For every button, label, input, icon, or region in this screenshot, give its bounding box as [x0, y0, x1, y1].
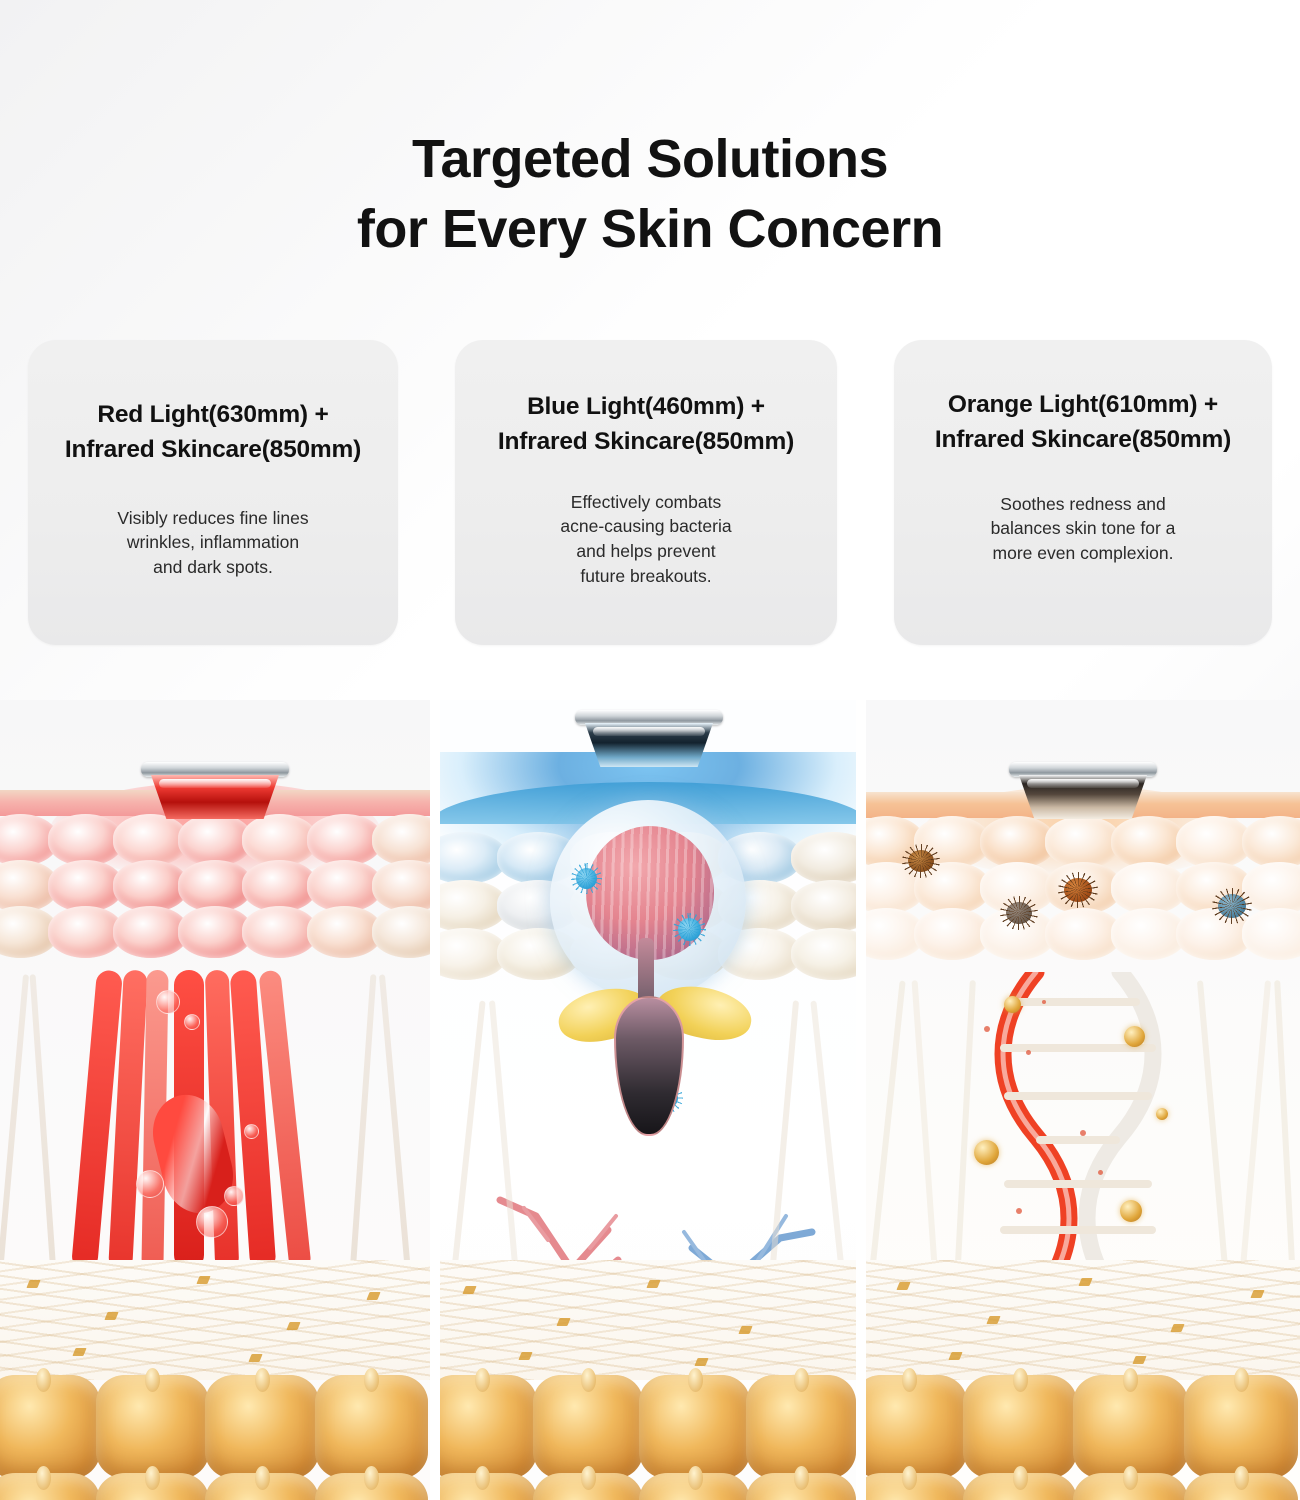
feature-card-row: Red Light(630mm) + Infrared Skincare(850…	[28, 340, 1272, 645]
device-gloss	[593, 727, 705, 736]
fat-cell	[96, 1473, 210, 1500]
collagen-strand	[379, 974, 411, 1273]
fat-cell	[963, 1473, 1078, 1500]
subcutaneous-fat-red	[0, 1378, 430, 1500]
acne-bacteria	[678, 918, 701, 941]
fat-cell	[1184, 1375, 1299, 1479]
device-rim	[575, 710, 723, 725]
micro-bubble	[136, 1170, 164, 1198]
page-title: Targeted Solutions for Every Skin Concer…	[0, 124, 1300, 264]
gold-particle	[1004, 996, 1021, 1013]
fat-cell	[440, 1375, 537, 1479]
pigment-dust	[1042, 1000, 1046, 1004]
fat-cell	[1073, 1375, 1188, 1479]
reticular-lattice-blue	[440, 1260, 858, 1380]
fat-cell	[440, 1473, 537, 1500]
collagen-strand	[30, 974, 57, 1274]
acne-bacteria	[576, 868, 597, 889]
pigment-dust	[1026, 1050, 1031, 1055]
pigment-dust	[1080, 1130, 1086, 1136]
gold-particle	[1156, 1108, 1168, 1120]
fat-cell	[639, 1473, 750, 1500]
collagen-strand	[0, 974, 29, 1273]
fat-cell	[639, 1375, 750, 1479]
red-light-collagen-panel	[0, 700, 430, 1500]
device-head-chrome-icon[interactable]	[1005, 762, 1161, 822]
fat-cell	[205, 1473, 319, 1500]
card-title-orange: Orange Light(610mm) + Infrared Skincare(…	[935, 388, 1231, 458]
fat-cell	[746, 1473, 857, 1500]
subcutaneous-fat-blue	[440, 1378, 858, 1500]
pigment-dust	[984, 1026, 990, 1032]
melanin-pigment-cluster	[1006, 902, 1032, 924]
card-title-red: Red Light(630mm) + Infrared Skincare(850…	[65, 398, 361, 468]
pigment-dust	[1098, 1170, 1103, 1175]
card-title-blue: Blue Light(460mm) + Infrared Skincare(85…	[498, 390, 794, 460]
micro-bubble	[156, 990, 180, 1014]
card-body-blue: Effectively combats acne-causing bacteri…	[560, 490, 731, 589]
cell-row-red-3	[0, 906, 430, 958]
card-body-red: Visibly reduces fine lines wrinkles, inf…	[117, 506, 308, 581]
device-rim	[1009, 762, 1157, 777]
subcutaneous-fat-orange	[866, 1378, 1300, 1500]
device-head-blue-icon[interactable]	[571, 710, 727, 770]
reticular-lattice-red	[0, 1260, 430, 1380]
skin-cross-section-band	[0, 700, 1300, 1500]
fat-cell	[0, 1473, 100, 1500]
melanin-pigment-cluster	[908, 850, 934, 872]
fat-cell	[1073, 1473, 1188, 1500]
fat-cell	[746, 1375, 857, 1479]
fat-cell	[315, 1375, 429, 1479]
melanin-pigment-cluster	[1064, 878, 1092, 902]
micro-bubble	[196, 1206, 228, 1238]
feature-card-orange-light: Orange Light(610mm) + Infrared Skincare(…	[894, 340, 1272, 645]
melanin-pigment-cluster	[1218, 894, 1246, 918]
poster-root: Targeted Solutions for Every Skin Concer…	[0, 0, 1300, 1500]
micro-bubble	[244, 1124, 259, 1139]
fat-cell	[533, 1375, 644, 1479]
gold-particle	[974, 1140, 999, 1165]
panel-divider	[430, 700, 440, 1500]
micro-bubble	[184, 1014, 200, 1030]
device-head-red-icon[interactable]	[137, 762, 293, 822]
micro-bubble	[224, 1186, 244, 1206]
fat-cell	[0, 1375, 100, 1479]
fat-cell	[315, 1473, 429, 1500]
pigment-dust	[1016, 1208, 1022, 1214]
fat-cell	[963, 1375, 1078, 1479]
device-rim	[141, 762, 289, 777]
fat-cell	[866, 1375, 967, 1479]
collagen-strand	[350, 974, 377, 1274]
panel-divider	[856, 700, 866, 1500]
orange-light-pigment-panel	[866, 700, 1300, 1500]
fat-cell	[533, 1473, 644, 1500]
fat-cell	[96, 1375, 210, 1479]
gold-particle	[1124, 1026, 1145, 1047]
gold-particle	[1120, 1200, 1142, 1222]
fat-cell	[866, 1473, 967, 1500]
fat-cell	[1184, 1473, 1299, 1500]
card-body-orange: Soothes redness and balances skin tone f…	[991, 492, 1176, 567]
device-gloss	[1027, 779, 1139, 788]
feature-card-red-light: Red Light(630mm) + Infrared Skincare(850…	[28, 340, 398, 645]
dna-double-helix	[978, 972, 1178, 1302]
reticular-lattice-orange	[866, 1260, 1300, 1380]
feature-card-blue-light: Blue Light(460mm) + Infrared Skincare(85…	[455, 340, 837, 645]
dermis-layer-red	[0, 974, 430, 1274]
cell-row-red-2	[0, 860, 430, 912]
device-gloss	[159, 779, 271, 788]
blue-light-acne-panel	[440, 700, 858, 1500]
fat-cell	[205, 1375, 319, 1479]
